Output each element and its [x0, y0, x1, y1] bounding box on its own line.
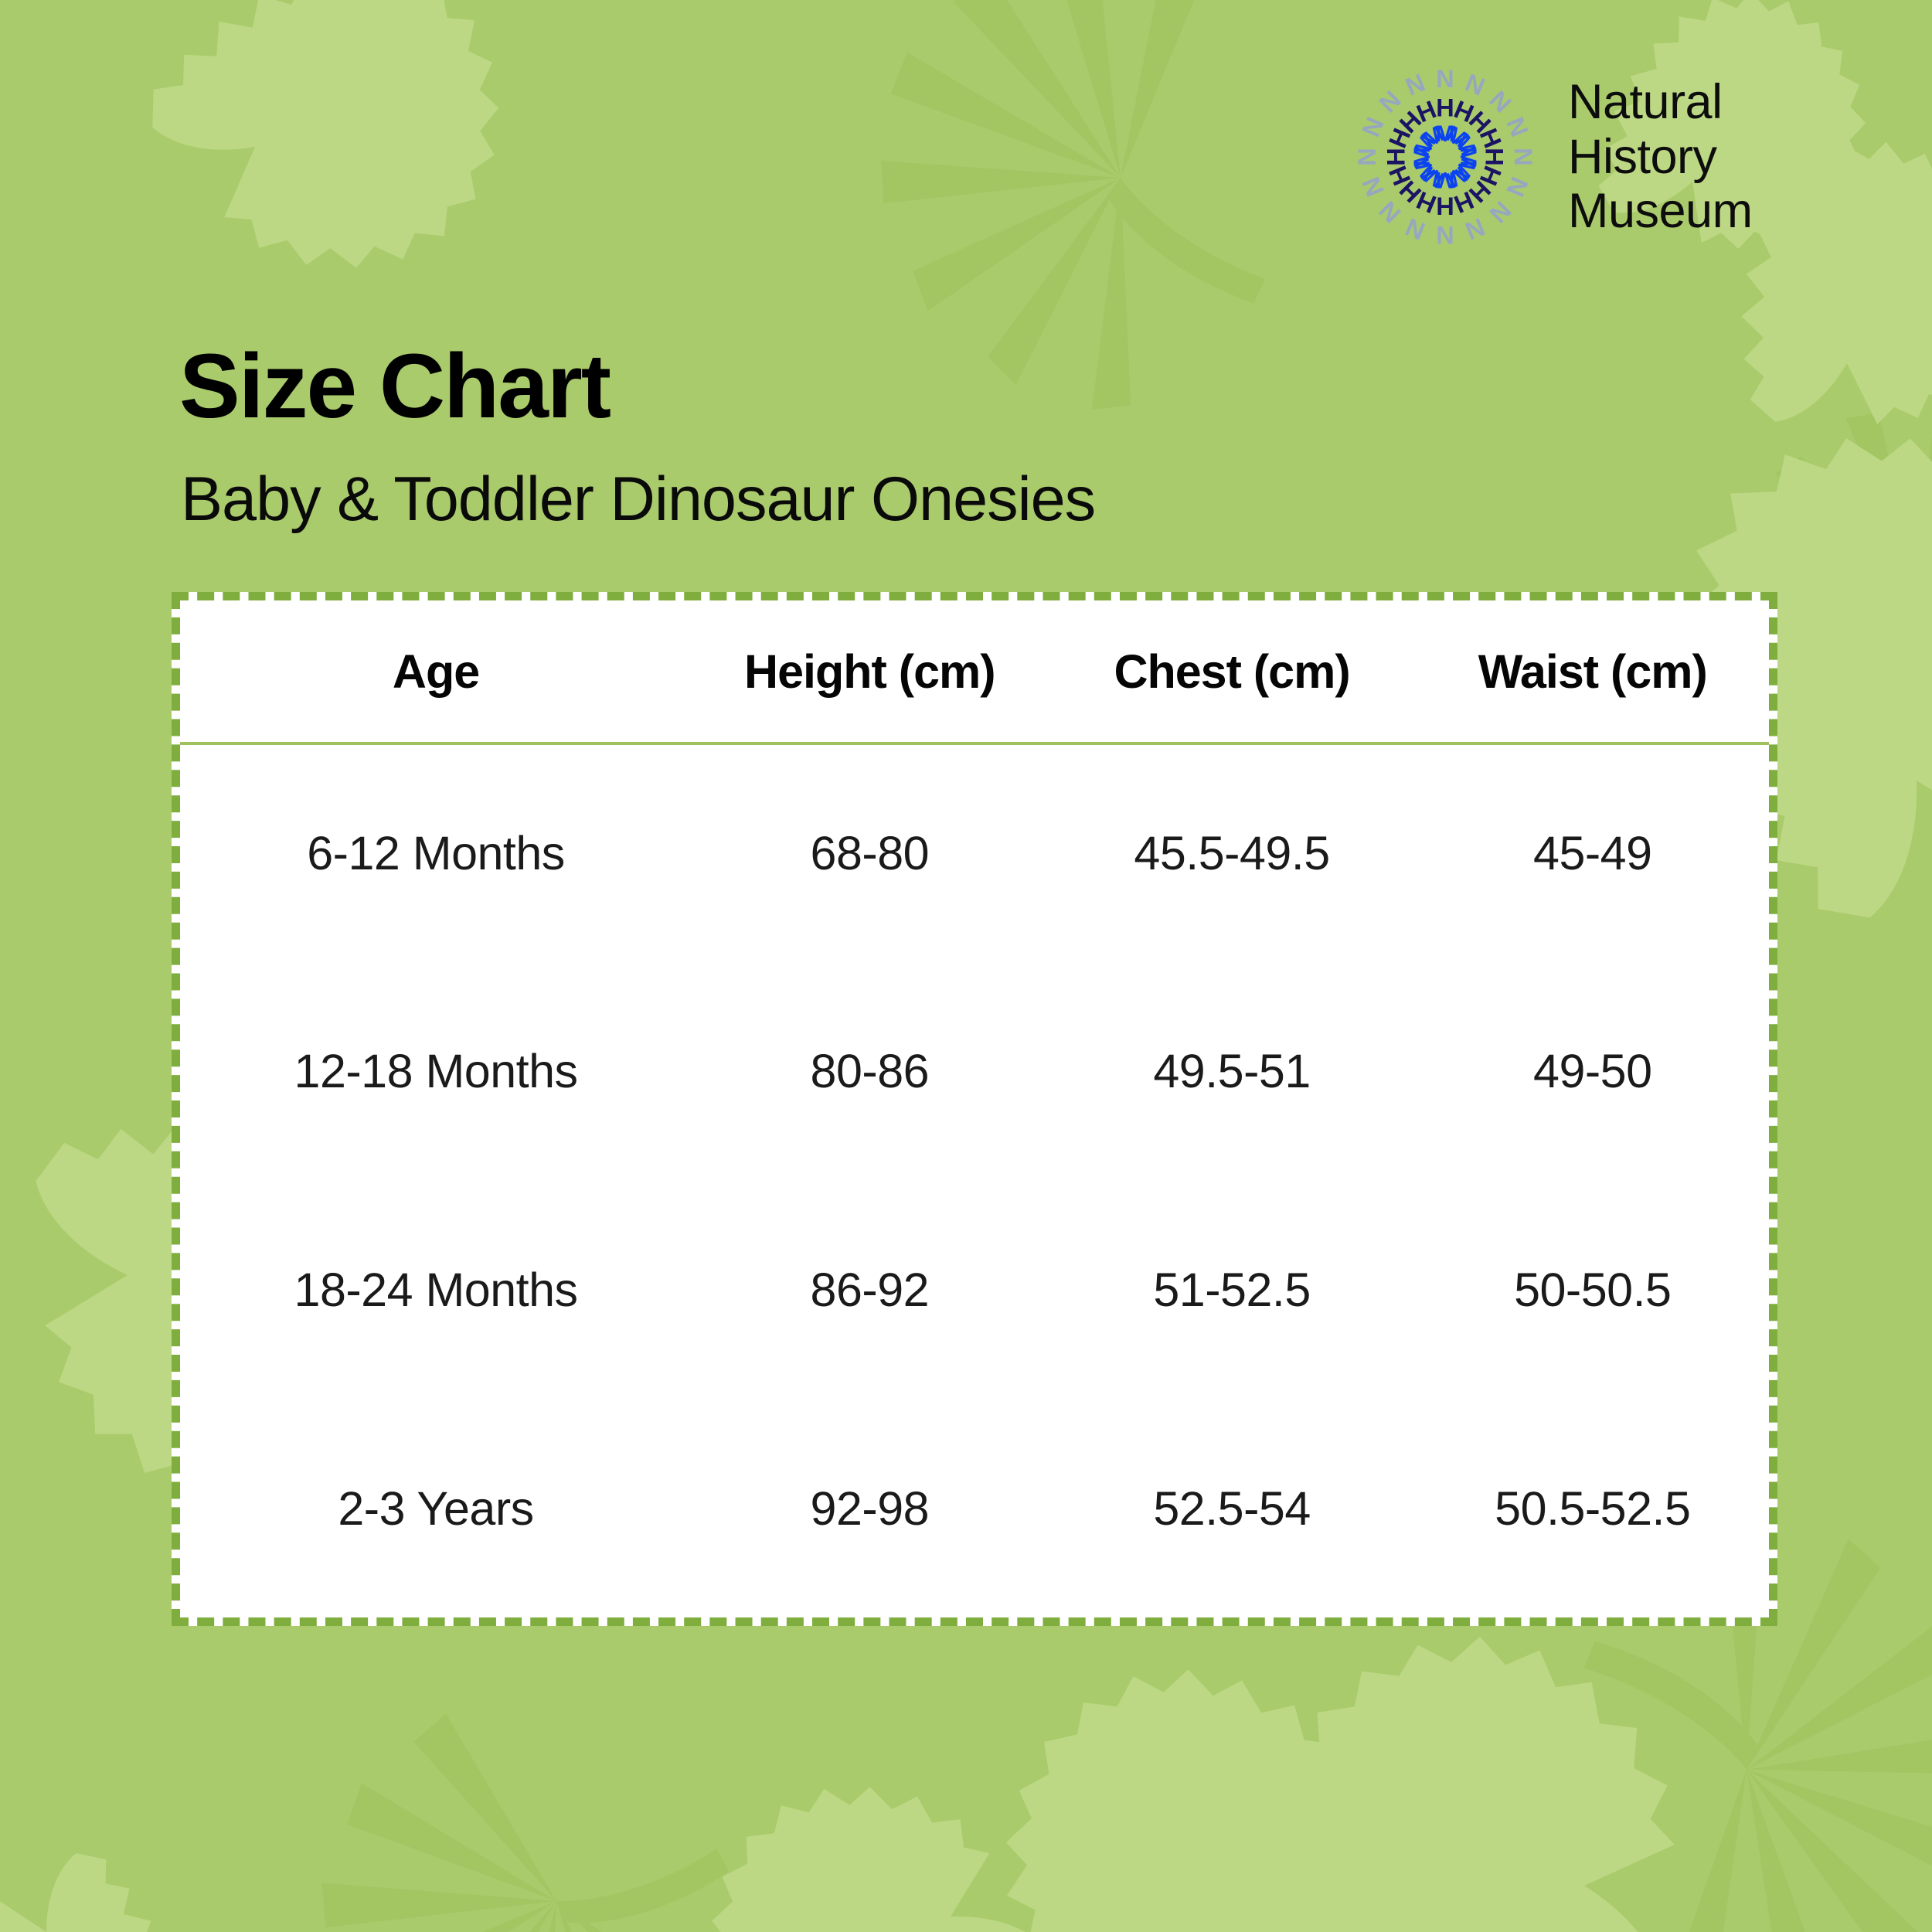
page-subtitle: Baby & Toddler Dinosaur Onesies: [181, 464, 1095, 536]
table-row: 2-3 Years 92-98 52.5-54 50.5-52.5: [180, 1399, 1769, 1617]
cell-height: 68-80: [692, 743, 1048, 962]
cell-age: 18-24 Months: [180, 1181, 692, 1400]
page-title: Size Chart: [179, 334, 610, 439]
cell-chest: 49.5-51: [1048, 962, 1417, 1181]
brand-line-2: History: [1568, 130, 1753, 185]
cell-waist: 50-50.5: [1417, 1181, 1769, 1400]
column-header-chest: Chest (cm): [1048, 600, 1417, 743]
nhm-logo: N N N N N N N N N N N N N N N N H H H H …: [1349, 60, 1753, 253]
cell-chest: 52.5-54: [1048, 1399, 1417, 1617]
cell-age: 2-3 Years: [180, 1399, 692, 1617]
table-header-row: Age Height (cm) Chest (cm) Waist (cm): [180, 600, 1769, 743]
cell-height: 86-92: [692, 1181, 1048, 1400]
column-header-height: Height (cm): [692, 600, 1048, 743]
svg-text:N: N: [1509, 148, 1537, 165]
size-chart-card: Age Height (cm) Chest (cm) Waist (cm) 6-…: [172, 592, 1777, 1626]
svg-text:N: N: [1353, 148, 1381, 165]
svg-text:N: N: [1436, 65, 1454, 93]
cell-age: 6-12 Months: [180, 743, 692, 962]
cell-chest: 51-52.5: [1048, 1181, 1417, 1400]
nhm-starburst-logo-icon: N N N N N N N N N N N N N N N N H H H H …: [1349, 60, 1542, 253]
brand-wordmark: Natural History Museum: [1568, 75, 1753, 239]
column-header-waist: Waist (cm): [1417, 600, 1769, 743]
cell-height: 80-86: [692, 962, 1048, 1181]
table-row: 6-12 Months 68-80 45.5-49.5 45-49: [180, 743, 1769, 962]
brand-line-1: Natural: [1568, 75, 1753, 130]
table-row: 12-18 Months 80-86 49.5-51 49-50: [180, 962, 1769, 1181]
column-header-age: Age: [180, 600, 692, 743]
brand-line-3: Museum: [1568, 184, 1753, 239]
cell-waist: 50.5-52.5: [1417, 1399, 1769, 1617]
table-row: 18-24 Months 86-92 51-52.5 50-50.5: [180, 1181, 1769, 1400]
size-chart-table: Age Height (cm) Chest (cm) Waist (cm) 6-…: [180, 600, 1769, 1617]
svg-text:N: N: [1436, 221, 1454, 249]
cell-height: 92-98: [692, 1399, 1048, 1617]
cell-chest: 45.5-49.5: [1048, 743, 1417, 962]
cell-waist: 45-49: [1417, 743, 1769, 962]
cell-waist: 49-50: [1417, 962, 1769, 1181]
cell-age: 12-18 Months: [180, 962, 692, 1181]
